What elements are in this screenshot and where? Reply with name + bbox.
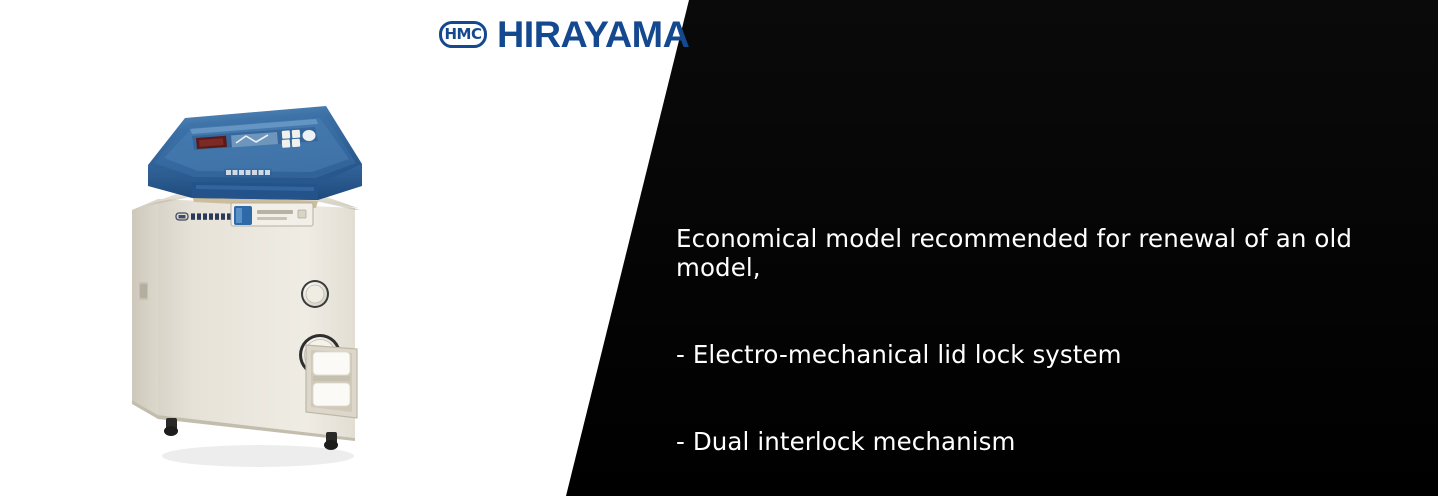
hmc-badge-icon: HMC bbox=[439, 21, 487, 48]
lid-front-lip bbox=[192, 182, 318, 200]
side-vent-slot-inner bbox=[140, 284, 147, 298]
panel-start-button bbox=[303, 130, 316, 141]
lid-lock-assembly bbox=[231, 203, 313, 226]
copy-line-2: - Electro-mechanical lid lock system bbox=[676, 340, 1396, 369]
tank-divider bbox=[313, 376, 350, 381]
panel-button-1 bbox=[282, 130, 291, 139]
autoclave-illustration bbox=[130, 60, 380, 470]
cabinet-side-panel bbox=[132, 199, 158, 415]
panel-button-3 bbox=[282, 139, 291, 148]
feature-copy-block: Economical model recommended for renewal… bbox=[676, 166, 1396, 500]
caster-front-right bbox=[324, 432, 338, 450]
copy-line-1: Economical model recommended for renewal… bbox=[676, 224, 1396, 282]
lock-slot-upper bbox=[257, 210, 293, 214]
copy-line-3: - Dual interlock mechanism bbox=[676, 427, 1396, 456]
tank-recess bbox=[306, 345, 357, 418]
hmc-badge-label: HMC bbox=[445, 27, 482, 42]
panel-button-4 bbox=[292, 139, 301, 148]
lock-handle-highlight bbox=[236, 208, 242, 223]
upper-water-tank bbox=[313, 352, 350, 375]
slide-canvas: HMC HIRAYAMA Economical model recommende… bbox=[0, 0, 1446, 500]
product-photo bbox=[130, 60, 380, 470]
lower-water-tank bbox=[313, 383, 350, 406]
lock-indicator bbox=[298, 210, 306, 218]
lock-slot-lower bbox=[257, 217, 287, 220]
pressure-gauge-small bbox=[301, 280, 329, 308]
brand-wordmark: HIRAYAMA bbox=[497, 16, 689, 53]
floor-shadow bbox=[162, 445, 354, 467]
lid-brand-label bbox=[224, 169, 272, 177]
panel-button-2 bbox=[292, 130, 301, 139]
hirayama-logo: HMC HIRAYAMA bbox=[439, 15, 686, 53]
autoclave-lid bbox=[148, 106, 362, 200]
caster-front-left bbox=[164, 418, 178, 436]
